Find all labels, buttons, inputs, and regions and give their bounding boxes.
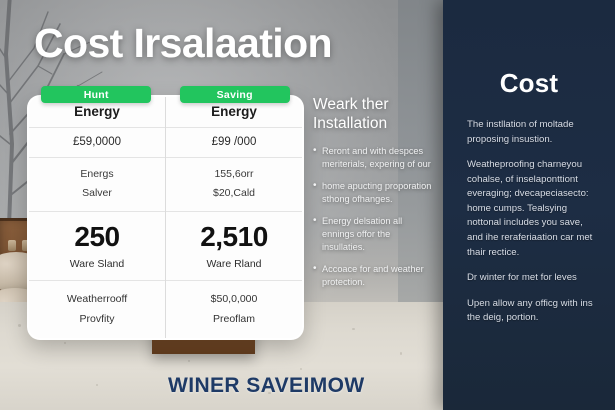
badge-hunt[interactable]: Hunt — [41, 86, 151, 103]
column-head: Energy — [211, 104, 257, 119]
table-row: $50,0,000 Preoflam — [166, 280, 302, 338]
foot-line: Weatherrooff — [67, 290, 127, 309]
foot-line: $50,0,000 — [211, 290, 258, 309]
sub-line: Salver — [82, 184, 112, 203]
table-row: Weatherrooff Provfity — [29, 280, 165, 338]
table-row: 250 Ware Sland — [29, 211, 165, 281]
table-row: £59,0000 — [29, 127, 165, 157]
panel-title: Cost — [443, 68, 615, 99]
panel-paragraph: Dr winter for met for leves — [467, 271, 601, 286]
bottom-banner: WINER SAVEIMOW — [168, 374, 365, 398]
feature-title-line2: Installation — [313, 115, 387, 132]
badge-saving[interactable]: Saving — [180, 86, 290, 103]
panel-paragraph: The instllation of moltade proposing ins… — [467, 118, 601, 147]
comparison-card: Energy £59,0000 Energs Salver 250 Ware S… — [27, 95, 304, 340]
panel-body: The instllation of moltade proposing ins… — [467, 118, 601, 337]
list-item: home apucting proporation sthong ofhange… — [313, 180, 435, 206]
big-number: 250 — [74, 221, 119, 253]
page-title: Cost Irsalaation — [34, 20, 332, 67]
table-row: £99 /000 — [166, 127, 302, 157]
panel-paragraph: Weatheproofing charneyou cohalse, of ins… — [467, 158, 601, 260]
table-row: 155,6orr $20,Cald — [166, 157, 302, 211]
table-row: 2,510 Ware Rland — [166, 211, 302, 281]
big-number: 2,510 — [200, 221, 268, 253]
sub-line: $20,Cald — [213, 184, 255, 203]
feature-title: Weark ther Installation — [313, 96, 435, 134]
price-value: £59,0000 — [73, 136, 121, 148]
feature-title-line1: Weark ther — [313, 96, 389, 113]
big-caption: Ware Rland — [206, 258, 261, 270]
foot-line: Provfity — [79, 310, 114, 329]
foot-line: Preoflam — [213, 310, 255, 329]
poster-root: Cost The instllation of moltade proposin… — [0, 0, 615, 410]
price-value: £99 /000 — [212, 136, 257, 148]
sub-line: 155,6orr — [214, 165, 253, 184]
comparison-column-right: Energy £99 /000 155,6orr $20,Cald 2,510 … — [165, 97, 302, 338]
column-head: Energy — [74, 104, 120, 119]
feature-bullet-list: Reront and with despces meriterials, exp… — [313, 145, 435, 290]
list-item: Accoace for and weather protection. — [313, 263, 435, 289]
list-item: Reront and with despces meriterials, exp… — [313, 145, 435, 171]
table-row: Energs Salver — [29, 157, 165, 211]
sub-line: Energs — [80, 165, 113, 184]
comparison-column-left: Energy £59,0000 Energs Salver 250 Ware S… — [29, 97, 165, 338]
comparison-badges: Hunt Saving — [27, 86, 304, 103]
navy-side-panel: Cost The instllation of moltade proposin… — [443, 0, 615, 410]
big-caption: Ware Sland — [70, 258, 124, 270]
panel-paragraph: Upen allow any officg with ins the deig,… — [467, 297, 601, 326]
list-item: Energy delsation all ennings offor the i… — [313, 215, 435, 254]
feature-column: Weark ther Installation Reront and with … — [313, 96, 435, 298]
